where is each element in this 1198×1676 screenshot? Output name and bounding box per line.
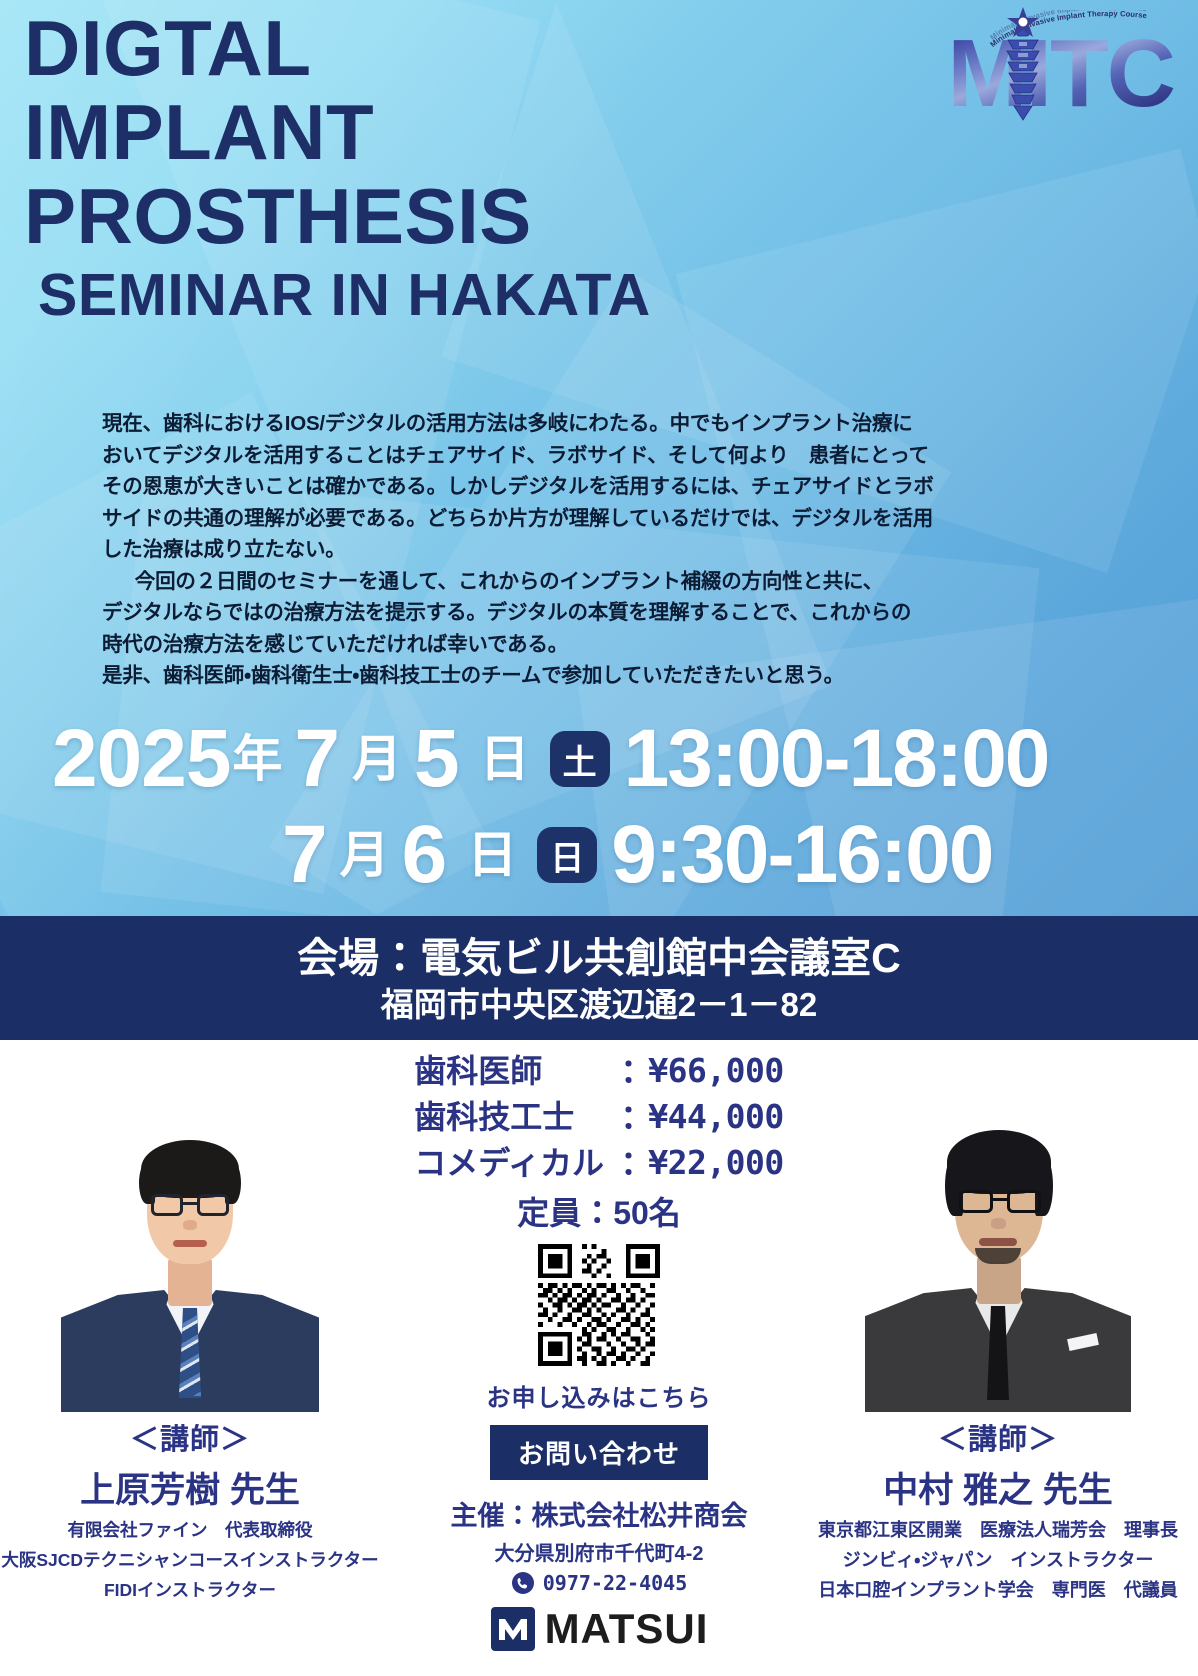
matsui-logo: MATSUI bbox=[299, 1605, 899, 1653]
speaker-photo-uehara bbox=[55, 1100, 325, 1412]
day1-year: 2025 bbox=[52, 718, 230, 800]
page-title: DIGTAL IMPLANT PROSTHESIS SEMINAR IN HAK… bbox=[24, 6, 651, 328]
lead-p1-l1: 現在、歯科におけるIOS/デジタルの活用方法は多岐にわたる。中でもインプラント治… bbox=[102, 408, 1052, 440]
matsui-logo-mark bbox=[490, 1606, 536, 1652]
price-label-comedical: コメディカル bbox=[414, 1140, 620, 1186]
day2-time: 9:30-16:00 bbox=[611, 814, 992, 896]
day1-day: 5 bbox=[404, 718, 470, 800]
eyeglasses-icon bbox=[959, 1190, 993, 1213]
eyeglasses-icon bbox=[151, 1194, 183, 1216]
day1-month-unit: 月 bbox=[350, 718, 404, 800]
price-value-comedical: ¥22,000 bbox=[648, 1140, 784, 1186]
title-line-1: DIGTAL bbox=[24, 6, 651, 90]
registration-column: 歯科医師 ： ¥66,000 歯科技工士 ： ¥44,000 コメディカル ： … bbox=[299, 1040, 899, 1653]
organizer-name: 主催：株式会社松井商会 bbox=[299, 1494, 899, 1533]
price-row: コメディカル ： ¥22,000 bbox=[414, 1140, 784, 1186]
title-line-3: PROSTHESIS bbox=[24, 174, 651, 258]
price-label-technician: 歯科技工士 bbox=[414, 1094, 620, 1140]
day1-weekday-badge: 土 bbox=[550, 731, 610, 787]
price-colon: ： bbox=[620, 1094, 648, 1140]
lead-p1-l3: その恩恵が大きいことは確かである。しかしデジタルを活用するには、チェアサイドとラ… bbox=[102, 471, 1052, 503]
day2-weekday-badge: 日 bbox=[537, 827, 597, 883]
organizer-address: 大分県別府市千代町4-2 bbox=[299, 1537, 899, 1566]
apply-caption: お申し込みはこちら bbox=[299, 1378, 899, 1413]
description-block: 現在、歯科におけるIOS/デジタルの活用方法は多岐にわたる。中でもインプラント治… bbox=[102, 408, 1052, 692]
speaker-photo-nakamura bbox=[863, 1100, 1133, 1412]
day1-time: 13:00-18:00 bbox=[624, 718, 1049, 800]
organizer-phone: 0977-22-4045 bbox=[543, 1571, 688, 1595]
qr-code-icon[interactable] bbox=[538, 1244, 660, 1366]
day1-month: 7 bbox=[284, 718, 350, 800]
schedule-row-day2: 7 月 6 日 日 9:30-16:00 bbox=[0, 810, 1198, 900]
lead-p1-l5: した治療は成り立たない。 bbox=[102, 534, 1052, 566]
price-row: 歯科技工士 ： ¥44,000 bbox=[414, 1094, 784, 1140]
title-subtitle: SEMINAR IN HAKATA bbox=[38, 262, 651, 328]
day1-year-unit: 年 bbox=[230, 718, 284, 800]
lead-p2-l1: 今回の２日間のセミナーを通して、これからのインプラント補綴の方向性と共に、 bbox=[102, 566, 1052, 598]
day1-day-unit: 日 bbox=[470, 718, 536, 800]
title-line-2: IMPLANT bbox=[24, 90, 651, 174]
lead-p2-l2: デジタルならではの治療方法を提示する。デジタルの本質を理解することで、これからの bbox=[102, 597, 1052, 629]
lead-p2-l3: 時代の治療方法を感じていただければ幸いである。 bbox=[102, 629, 1052, 661]
venue-bar: 会場：電気ビル共創館中会議室C 福岡市中央区渡辺通2－1－82 bbox=[0, 916, 1198, 1040]
schedule-row-day1: 2025 年 7 月 5 日 土 13:00-18:00 bbox=[0, 714, 1198, 804]
lead-p3-l1: 是非、歯科医師・歯科衛生士・歯科技工士のチームで参加していただきたいと思う。 bbox=[102, 660, 1052, 692]
contact-button[interactable]: お問い合わせ bbox=[490, 1425, 708, 1480]
star-icon bbox=[1006, 6, 1040, 40]
matsui-wordmark: MATSUI bbox=[545, 1605, 709, 1653]
phone-icon bbox=[511, 1571, 535, 1595]
venue-address: 福岡市中央区渡辺通2－1－82 bbox=[0, 984, 1198, 1026]
mitc-logo: Minimally Invasive Implant Therapy Cours… bbox=[874, 8, 1174, 126]
capacity-text: 定員：50名 bbox=[299, 1190, 899, 1236]
schedule-block: 2025 年 7 月 5 日 土 13:00-18:00 7 月 6 日 日 9… bbox=[0, 714, 1198, 900]
day2-day: 6 bbox=[392, 814, 458, 896]
day2-day-unit: 日 bbox=[457, 814, 523, 896]
venue-name: 会場：電気ビル共創館中会議室C bbox=[0, 932, 1198, 984]
lead-p1-l2: おいてデジタルを活用することはチェアサイド、ラボサイド、そして何より 患者にとっ… bbox=[102, 440, 1052, 472]
price-colon: ： bbox=[620, 1140, 648, 1186]
organizer-phone-row: 0977-22-4045 bbox=[299, 1571, 899, 1595]
price-colon: ： bbox=[620, 1048, 648, 1094]
lead-p1-l4: サイドの共通の理解が必要である。どちらか片方が理解しているだけでは、デジタルを活… bbox=[102, 503, 1052, 535]
price-label-dentist: 歯科医師 bbox=[414, 1048, 620, 1094]
seminar-poster: DIGTAL IMPLANT PROSTHESIS SEMINAR IN HAK… bbox=[0, 0, 1198, 1676]
price-value-technician: ¥44,000 bbox=[648, 1094, 784, 1140]
price-value-dentist: ¥66,000 bbox=[648, 1048, 784, 1094]
price-list: 歯科医師 ： ¥66,000 歯科技工士 ： ¥44,000 コメディカル ： … bbox=[414, 1048, 784, 1186]
price-row: 歯科医師 ： ¥66,000 bbox=[414, 1048, 784, 1094]
day2-month: 7 bbox=[272, 814, 338, 896]
day2-month-unit: 月 bbox=[338, 814, 392, 896]
